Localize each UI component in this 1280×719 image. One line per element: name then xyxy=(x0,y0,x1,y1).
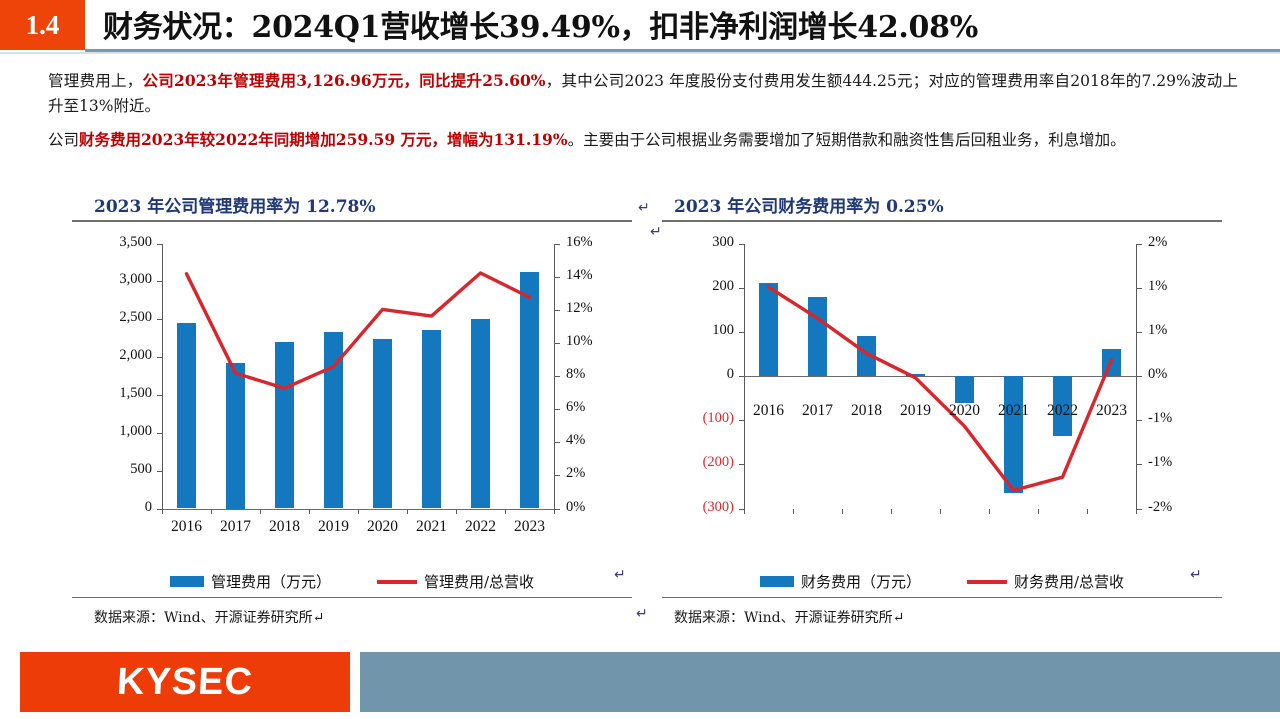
y-axis-label-left: 300 xyxy=(666,234,734,251)
y-axis-label-left: 3,000 xyxy=(84,271,152,288)
axis-tick xyxy=(554,277,560,278)
axis-tick xyxy=(554,376,560,377)
para2-segment-1: 公司 xyxy=(48,131,79,149)
paragraph-management-expense: 管理费用上，公司2023年管理费用3,126.96万元，同比提升25.60%，其… xyxy=(48,68,1238,119)
axis-tick xyxy=(157,244,163,245)
bar-2018 xyxy=(857,336,877,376)
legend-swatch-bar-icon xyxy=(170,576,204,587)
legend-item-line-right: 财务费用/总营收 xyxy=(967,571,1124,592)
x-axis-tick xyxy=(162,509,163,514)
axis-tick xyxy=(1136,464,1142,465)
legend-item-line-left: 管理费用/总营收 xyxy=(377,571,534,592)
pilcrow-mark: ↵ xyxy=(636,606,648,623)
pilcrow-mark: ↵ xyxy=(650,224,662,241)
y-axis-label-right: -1% xyxy=(1148,454,1208,471)
y-axis-label-left: (200) xyxy=(666,454,734,471)
axis-tick xyxy=(554,244,560,245)
legend-swatch-line-icon xyxy=(967,580,1007,584)
x-axis-label-2023: 2023 xyxy=(1082,402,1142,420)
axis-tick xyxy=(1136,332,1142,333)
y-axis-label-right: 14% xyxy=(566,267,626,284)
plot-area-right: (300)(200)(100)0100200300-2%-1%-1%0%1%1%… xyxy=(662,222,1222,567)
y-axis-label-left: 1,500 xyxy=(84,385,152,402)
y-axis-label-left: 200 xyxy=(666,278,734,295)
axis-tick xyxy=(554,409,560,410)
chart-source-left: 数据来源：Wind、开源证券研究所↵ xyxy=(72,598,632,627)
x-axis-tick xyxy=(260,509,261,514)
section-number-badge: 1.4 xyxy=(0,0,85,50)
plot-area-left: 05001,0001,5002,0002,5003,0003,5000%2%4%… xyxy=(72,222,632,567)
bar-2016 xyxy=(759,283,779,376)
y-axis-label-left: (300) xyxy=(666,499,734,516)
y-axis-label-left: 0 xyxy=(666,366,734,383)
y-axis-label-right: 16% xyxy=(566,234,626,251)
axis-tick xyxy=(157,281,163,282)
x-axis-tick xyxy=(211,509,212,514)
bar-2017 xyxy=(808,297,828,377)
y-axis-label-right: 1% xyxy=(1148,278,1208,295)
axis-spine xyxy=(162,244,163,509)
x-axis-tick xyxy=(309,509,310,514)
x-axis-tick xyxy=(554,509,555,514)
para2-segment-3: 。主要由于公司根据业务需要增加了短期借款和融资性售后回租业务，利息增加。 xyxy=(568,131,1126,149)
kysec-logo: KYSEC xyxy=(20,652,350,712)
bar-2020 xyxy=(955,376,975,403)
axis-tick xyxy=(1136,288,1142,289)
bar-2016 xyxy=(177,323,197,509)
y-axis-label-left: 3,500 xyxy=(84,234,152,251)
y-axis-label-left: 2,500 xyxy=(84,309,152,326)
paragraph-finance-expense: 公司财务费用2023年较2022年同期增加259.59 万元，增幅为131.19… xyxy=(48,127,1238,153)
legend-swatch-bar-icon xyxy=(760,576,794,587)
x-axis-tick xyxy=(1038,509,1039,514)
y-axis-label-right: 10% xyxy=(566,333,626,350)
bar-2019 xyxy=(324,332,344,508)
legend-item-bar-left: 管理费用（万元） xyxy=(170,571,331,592)
axis-tick xyxy=(1136,244,1142,245)
bar-2017 xyxy=(226,363,246,509)
x-axis-tick xyxy=(358,509,359,514)
axis-tick xyxy=(1136,376,1142,377)
axis-tick xyxy=(739,464,745,465)
x-axis-tick xyxy=(456,509,457,514)
header-divider-light xyxy=(0,52,1280,54)
y-axis-label-left: 2,000 xyxy=(84,347,152,364)
y-axis-label-right: 1% xyxy=(1148,322,1208,339)
bar-2020 xyxy=(373,339,393,509)
axis-tick xyxy=(739,332,745,333)
legend-label-line-left: 管理费用/总营收 xyxy=(424,571,534,592)
y-axis-label-right: 0% xyxy=(1148,366,1208,383)
footer-accent-bar xyxy=(360,652,1280,712)
y-axis-label-right: -2% xyxy=(1148,499,1208,516)
axis-tick xyxy=(739,288,745,289)
axis-tick xyxy=(157,471,163,472)
pilcrow-mark: ↵ xyxy=(638,200,650,217)
axis-tick xyxy=(1136,420,1142,421)
axis-tick xyxy=(739,420,745,421)
slide-footer: KYSEC xyxy=(0,652,1280,719)
chart-panel-finance-expense: 2023 年公司财务费用率为 0.25% (300)(200)(100)0100… xyxy=(662,192,1222,622)
chart-source-right: 数据来源：Wind、开源证券研究所↵ xyxy=(662,598,1222,627)
chart-title-left: 2023 年公司管理费用率为 12.78% xyxy=(72,192,632,220)
chart-panel-management-expense: 2023 年公司管理费用率为 12.78% 05001,0001,5002,00… xyxy=(72,192,632,622)
y-axis-label-left: 1,000 xyxy=(84,423,152,440)
axis-tick xyxy=(554,343,560,344)
x-axis-tick xyxy=(891,509,892,514)
y-axis-label-right: 2% xyxy=(566,465,626,482)
axis-tick xyxy=(157,357,163,358)
legend-swatch-line-icon xyxy=(377,580,417,584)
y-axis-label-right: 4% xyxy=(566,432,626,449)
legend-label-line-right: 财务费用/总营收 xyxy=(1014,571,1124,592)
x-axis-tick xyxy=(505,509,506,514)
axis-tick xyxy=(157,319,163,320)
bar-2021 xyxy=(1004,376,1024,493)
axis-tick xyxy=(739,244,745,245)
x-axis-tick xyxy=(744,509,745,514)
bar-2021 xyxy=(422,330,442,508)
bar-2023 xyxy=(520,272,540,509)
y-axis-label-right: 6% xyxy=(566,399,626,416)
y-axis-label-right: -1% xyxy=(1148,410,1208,427)
x-axis-tick xyxy=(1136,509,1137,514)
bar-2019 xyxy=(906,374,926,376)
x-axis-tick xyxy=(1087,509,1088,514)
line-series-overlay xyxy=(662,222,1222,567)
chart-legend-right: 财务费用（万元） 财务费用/总营收 xyxy=(662,567,1222,597)
y-axis-label-left: (100) xyxy=(666,410,734,427)
y-axis-label-right: 8% xyxy=(566,366,626,383)
axis-tick xyxy=(554,475,560,476)
x-axis-tick xyxy=(407,509,408,514)
x-axis-tick xyxy=(793,509,794,514)
legend-label-bar-right: 财务费用（万元） xyxy=(801,571,921,592)
axis-tick xyxy=(157,433,163,434)
axis-tick xyxy=(157,395,163,396)
legend-label-bar-left: 管理费用（万元） xyxy=(211,571,331,592)
y-axis-label-right: 2% xyxy=(1148,234,1208,251)
y-axis-label-right: 12% xyxy=(566,300,626,317)
x-axis-label-2023: 2023 xyxy=(500,518,560,536)
para1-segment-1: 管理费用上， xyxy=(48,72,143,90)
axis-tick xyxy=(554,442,560,443)
x-axis-tick xyxy=(940,509,941,514)
page-title: 财务状况：2024Q1营收增长39.49%，扣非净利润增长42.08% xyxy=(103,2,978,46)
y-axis-label-left: 100 xyxy=(666,322,734,339)
kysec-logo-text: KYSEC xyxy=(116,661,254,704)
bar-2018 xyxy=(275,342,295,509)
para2-highlight: 财务费用2023年较2022年同期增加259.59 万元，增幅为131.19% xyxy=(79,130,568,149)
y-axis-label-left: 0 xyxy=(84,499,152,516)
legend-item-bar-right: 财务费用（万元） xyxy=(760,571,921,592)
zero-baseline xyxy=(744,376,1136,377)
bar-2022 xyxy=(471,319,491,508)
y-axis-label-right: 0% xyxy=(566,499,626,516)
bar-2023 xyxy=(1102,349,1122,376)
x-axis-tick xyxy=(989,509,990,514)
y-axis-label-left: 500 xyxy=(84,461,152,478)
para1-highlight: 公司2023年管理费用3,126.96万元，同比提升25.60% xyxy=(143,71,546,90)
x-axis-tick xyxy=(842,509,843,514)
slide-header: 1.4 财务状况：2024Q1营收增长39.49%，扣非净利润增长42.08% xyxy=(0,0,1280,57)
line-series-overlay xyxy=(72,222,632,567)
axis-tick xyxy=(554,310,560,311)
chart-legend-left: 管理费用（万元） 管理费用/总营收 xyxy=(72,567,632,597)
chart-title-right: 2023 年公司财务费用率为 0.25% xyxy=(662,192,1222,220)
